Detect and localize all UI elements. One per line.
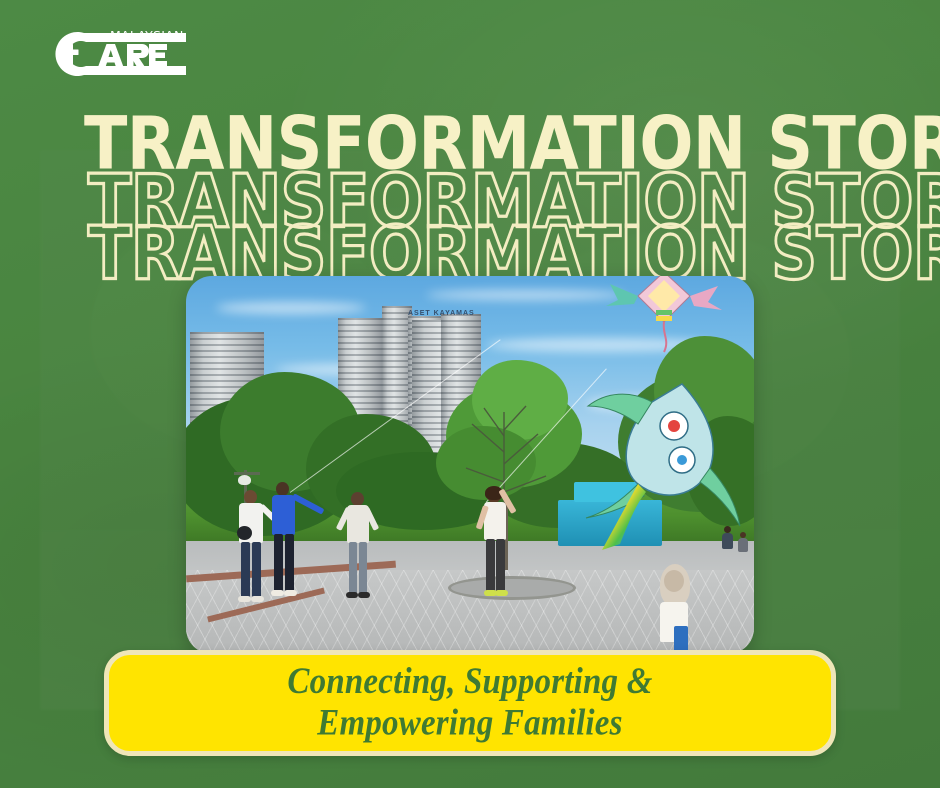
photo-scene: ASET KAYAMAS: [186, 276, 754, 654]
person-far-right: [720, 526, 736, 556]
cloud-wisp: [216, 302, 366, 314]
logo-are-letters: [98, 44, 167, 67]
logo-svg: MALAYSIAN: [36, 24, 206, 84]
tagline-line-1: Connecting, Supporting &: [287, 662, 652, 703]
person-center-kite-flyer: [478, 484, 512, 604]
logo-malaysian-text: MALAYSIAN: [110, 28, 184, 43]
title-line-1-text: TRANSFORMATION STORY: [84, 107, 940, 180]
kite-upper-right: [604, 276, 724, 356]
malaysian-care-logo: MALAYSIAN: [36, 24, 206, 84]
title-line-2: TRANSFORMATION STORY: [0, 172, 940, 232]
title-line-1: TRANSFORMATION STORY: [0, 114, 940, 174]
person-blue-shirt: [266, 482, 304, 602]
park-kite-flying-photo: ASET KAYAMAS: [186, 276, 754, 654]
tree-planter: [448, 576, 576, 600]
person-right-hijab: [652, 564, 696, 654]
tagline-banner: Connecting, Supporting & Empowering Fami…: [104, 650, 836, 756]
poster-root: MALAYSIAN TRANSFORMATION STORY TRANSFORM…: [0, 0, 940, 788]
title-line-2-text: TRANSFORMATION STORY: [88, 165, 940, 238]
cloud-wisp: [426, 290, 626, 300]
title-line-3: TRANSFORMATION STORY: [0, 224, 940, 284]
tagline-text: Connecting, Supporting & Empowering Fami…: [287, 662, 652, 745]
lamp-head: [238, 475, 251, 485]
kite-lower-right: [578, 372, 754, 552]
building-sign: ASET KAYAMAS: [408, 310, 475, 317]
title-stack: TRANSFORMATION STORY TRANSFORMATION STOR…: [0, 108, 940, 288]
tagline-line-2: Empowering Families: [287, 703, 652, 744]
person-far-right: [736, 532, 752, 558]
person-center-left: [342, 492, 374, 602]
person-white-shirt: [234, 490, 268, 606]
